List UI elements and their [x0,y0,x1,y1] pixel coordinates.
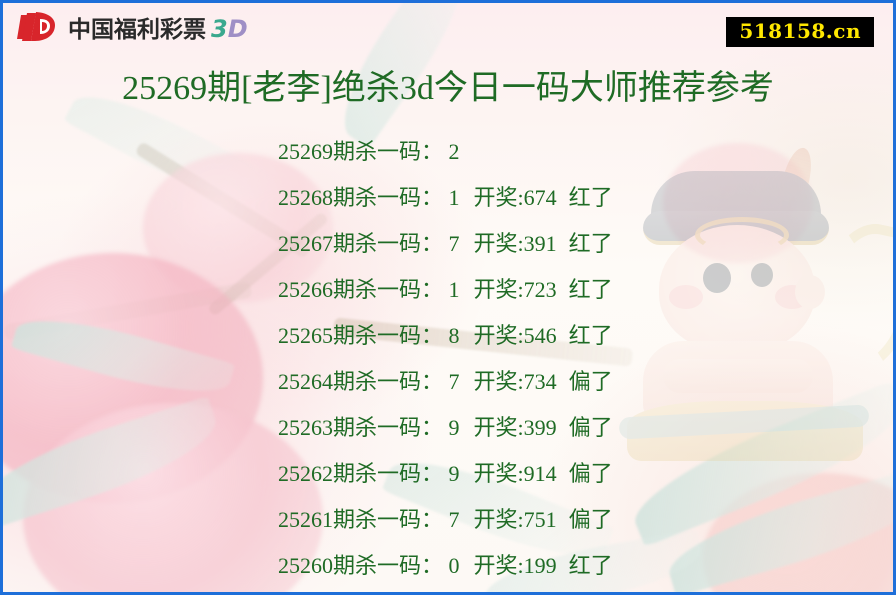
row-period-kill: 25263期杀一码： 9 [278,415,460,440]
row-period-kill: 25261期杀一码： 7 [278,507,460,532]
row-draw-result: 开奖:734 [474,369,557,394]
row-verdict: 红了 [569,231,613,256]
forecast-row: 25266期杀一码： 1开奖:723红了 [278,267,873,313]
row-draw-result: 开奖:399 [474,415,557,440]
row-period-kill: 25266期杀一码： 1 [278,277,460,302]
page-title: 25269期[老李]绝杀3d今日一码大师推荐参考 [3,60,893,109]
row-verdict: 红了 [569,185,613,210]
row-draw-result: 开奖:914 [474,461,557,486]
site-watermark-badge: 518158.cn [726,17,874,47]
row-verdict: 红了 [569,277,613,302]
branch-decoration [4,281,253,340]
forecast-row: 25269期杀一码： 2 [278,129,873,175]
header-bar: 中国福利彩票3D 518158.cn [3,3,893,55]
row-period-kill: 25264期杀一码： 7 [278,369,460,394]
row-draw-result: 开奖:674 [474,185,557,210]
row-draw-result: 开奖:199 [474,553,557,578]
forecast-row: 25267期杀一码： 7开奖:391红了 [278,221,873,267]
row-verdict: 红了 [569,323,613,348]
row-period-kill: 25260期杀一码： 0 [278,553,460,578]
row-period-kill: 25269期杀一码： 2 [278,139,460,164]
peach-decoration [3,253,263,503]
row-verdict: 偏了 [569,369,613,394]
row-period-kill: 25265期杀一码： 8 [278,323,460,348]
brand-d-label: D [228,15,248,43]
brand-name: 中国福利彩票3D [68,10,248,44]
forecast-row: 25262期杀一码： 9开奖:914偏了 [278,451,873,497]
forecast-row: 25263期杀一码： 9开奖:399偏了 [278,405,873,451]
row-draw-result: 开奖:546 [474,323,557,348]
china-welfare-lottery-logo-icon [17,9,59,45]
forecast-row: 25265期杀一码： 8开奖:546红了 [278,313,873,359]
row-verdict: 偏了 [569,415,613,440]
row-verdict: 偏了 [569,507,613,532]
row-draw-result: 开奖:391 [474,231,557,256]
forecast-list: 25269期杀一码： 225268期杀一码： 1开奖:674红了25267期杀一… [278,129,873,589]
row-draw-result: 开奖:723 [474,277,557,302]
row-period-kill: 25268期杀一码： 1 [278,185,460,210]
forecast-row: 25268期杀一码： 1开奖:674红了 [278,175,873,221]
row-verdict: 偏了 [569,461,613,486]
lottery-forecast-image: 中国福利彩票3D 518158.cn 25269期[老李]绝杀3d今日一码大师推… [0,0,896,595]
leaf-decoration [11,304,235,409]
row-period-kill: 25262期杀一码： 9 [278,461,460,486]
forecast-row: 25260期杀一码： 0开奖:199红了 [278,543,873,589]
row-period-kill: 25267期杀一码： 7 [278,231,460,256]
forecast-row: 25261期杀一码： 7开奖:751偏了 [278,497,873,543]
row-verdict: 红了 [569,553,613,578]
forecast-row: 25264期杀一码： 7开奖:734偏了 [278,359,873,405]
brand-lockup: 中国福利彩票3D [17,9,248,45]
row-draw-result: 开奖:751 [474,507,557,532]
leaf-decoration [3,396,226,530]
brand-3-label: 3 [206,15,228,43]
